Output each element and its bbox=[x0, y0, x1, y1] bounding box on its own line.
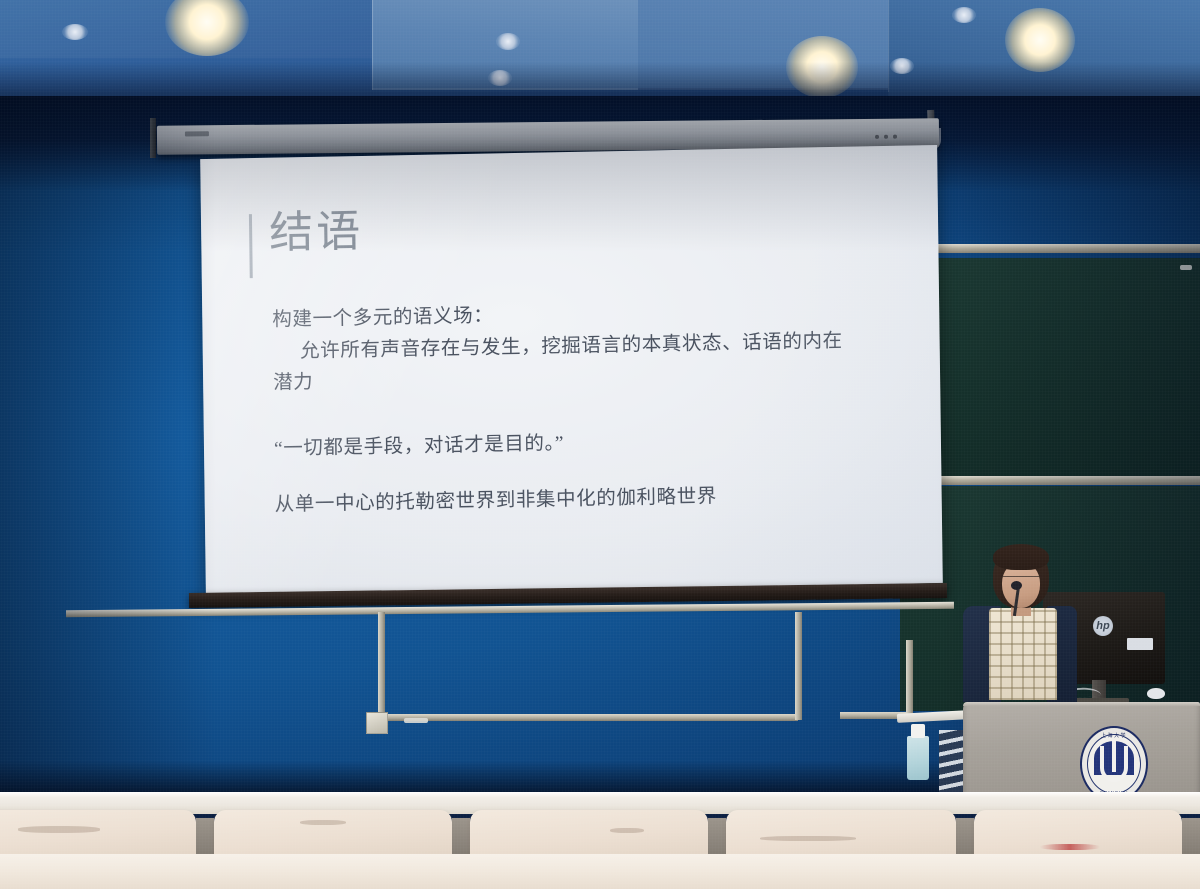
shanghai-university-logo-icon: 上海大学 SHANGHAI UNIVERSITY bbox=[1080, 726, 1148, 802]
monitor-label-tag bbox=[1127, 638, 1153, 650]
desk-scuff bbox=[760, 836, 856, 841]
chair-back[interactable] bbox=[0, 810, 196, 858]
desk-red-mark bbox=[1040, 844, 1100, 850]
desk-front-panel bbox=[0, 854, 1200, 889]
hp-logo-icon: hp bbox=[1093, 616, 1113, 636]
desk-scuff bbox=[18, 826, 100, 833]
lecture-hall-photo: 结语 构建一个多元的语义场： 允许所有声音存在与发生，挖掘语言的本真状态、话语的… bbox=[0, 0, 1200, 889]
desk-scuff bbox=[300, 820, 346, 825]
chair-back[interactable] bbox=[974, 810, 1182, 858]
ceiling-light bbox=[952, 7, 976, 23]
presenter-plaid-shirt bbox=[989, 608, 1057, 700]
desk-scuff bbox=[610, 828, 644, 833]
podium-top-edge bbox=[963, 702, 1200, 706]
logo-u-shape bbox=[1100, 746, 1128, 782]
desk-mouse[interactable] bbox=[1147, 688, 1165, 699]
ceiling-light bbox=[62, 24, 88, 40]
sanitizer-pump[interactable] bbox=[911, 724, 925, 738]
hand-sanitizer-bottle bbox=[907, 736, 929, 780]
presenter-hair bbox=[993, 544, 1049, 570]
microphone-icon[interactable] bbox=[1011, 581, 1022, 590]
presenter-and-podium: hp 上海大学 SHANGHAI UNIVERSITY bbox=[955, 540, 1200, 806]
logo-chinese-text: 上海大学 bbox=[1094, 732, 1134, 741]
ceiling-light bbox=[496, 33, 520, 50]
chair-back[interactable] bbox=[726, 810, 956, 858]
chair-back[interactable] bbox=[470, 810, 708, 858]
foreground-desk-row bbox=[0, 792, 1200, 889]
desk-highlight bbox=[0, 792, 1200, 797]
chair-back[interactable] bbox=[214, 810, 452, 858]
lecture-podium: 上海大学 SHANGHAI UNIVERSITY bbox=[963, 702, 1200, 802]
